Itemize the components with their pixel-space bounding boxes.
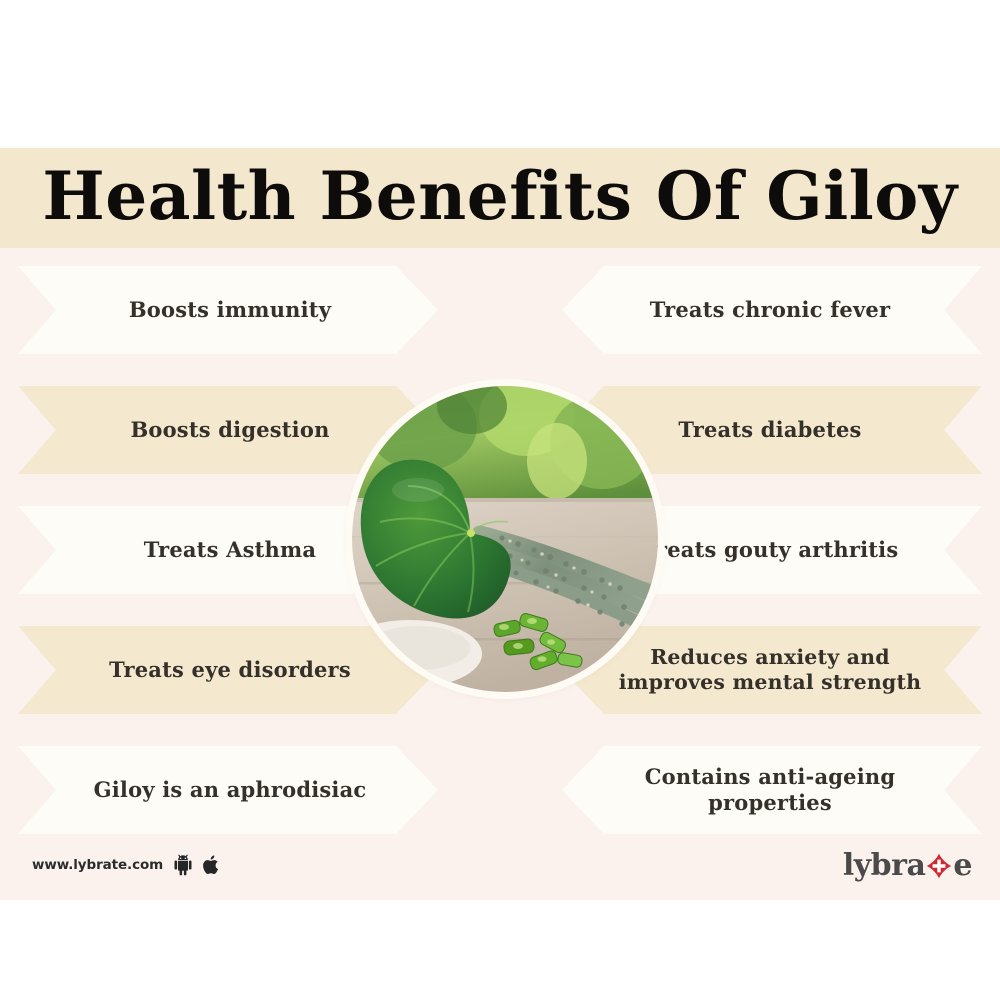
benefit-label: Treats eye disorders xyxy=(109,657,351,683)
benefit-label: Treats Asthma xyxy=(144,537,316,563)
benefit-label: Treats gouty arthritis xyxy=(642,537,899,563)
benefit-label: Boosts digestion xyxy=(130,417,329,443)
benefit-right-1[interactable]: Treats chronic fever xyxy=(562,266,982,354)
benefit-row: Boosts immunity Treats chronic fever xyxy=(0,266,1000,354)
logo-text-suffix: e xyxy=(953,848,972,883)
red-cross-icon xyxy=(926,853,952,884)
benefit-right-5[interactable]: Contains anti-ageing properties xyxy=(562,746,982,834)
giloy-photo xyxy=(352,386,658,692)
benefit-label: Treats diabetes xyxy=(678,417,861,443)
benefit-left-4[interactable]: Treats eye disorders xyxy=(18,626,438,714)
benefit-label-line2: improves mental strength xyxy=(619,670,922,694)
page-title: Health Benefits Of Giloy xyxy=(42,163,957,229)
benefit-left-1[interactable]: Boosts immunity xyxy=(18,266,438,354)
benefit-left-5[interactable]: Giloy is an aphrodisiac xyxy=(18,746,438,834)
apple-icon[interactable] xyxy=(203,854,221,876)
android-icon[interactable] xyxy=(173,854,193,876)
footer: www.lybrate.com xyxy=(0,848,1000,900)
benefit-label: Boosts immunity xyxy=(129,297,331,323)
benefit-label: Contains anti-ageing properties xyxy=(614,764,926,815)
benefit-right-4[interactable]: Reduces anxiety and improves mental stre… xyxy=(562,626,982,714)
logo-text-prefix: lybra xyxy=(843,848,926,883)
infographic-card: Health Benefits Of Giloy Boosts immunity… xyxy=(0,148,1000,900)
site-url[interactable]: www.lybrate.com xyxy=(32,857,163,873)
benefit-label-line1: Reduces anxiety and xyxy=(650,645,890,669)
benefit-label: Reduces anxiety and improves mental stre… xyxy=(619,645,922,695)
giloy-photo-image xyxy=(352,386,658,692)
benefit-label: Treats chronic fever xyxy=(650,297,890,323)
footer-left-group: www.lybrate.com xyxy=(32,854,221,876)
benefit-row: Giloy is an aphrodisiac Contains anti-ag… xyxy=(0,746,1000,834)
title-band: Health Benefits Of Giloy xyxy=(0,148,1000,248)
benefit-label: Giloy is an aphrodisiac xyxy=(94,777,367,803)
lybrate-logo[interactable]: lybra e xyxy=(843,848,972,883)
